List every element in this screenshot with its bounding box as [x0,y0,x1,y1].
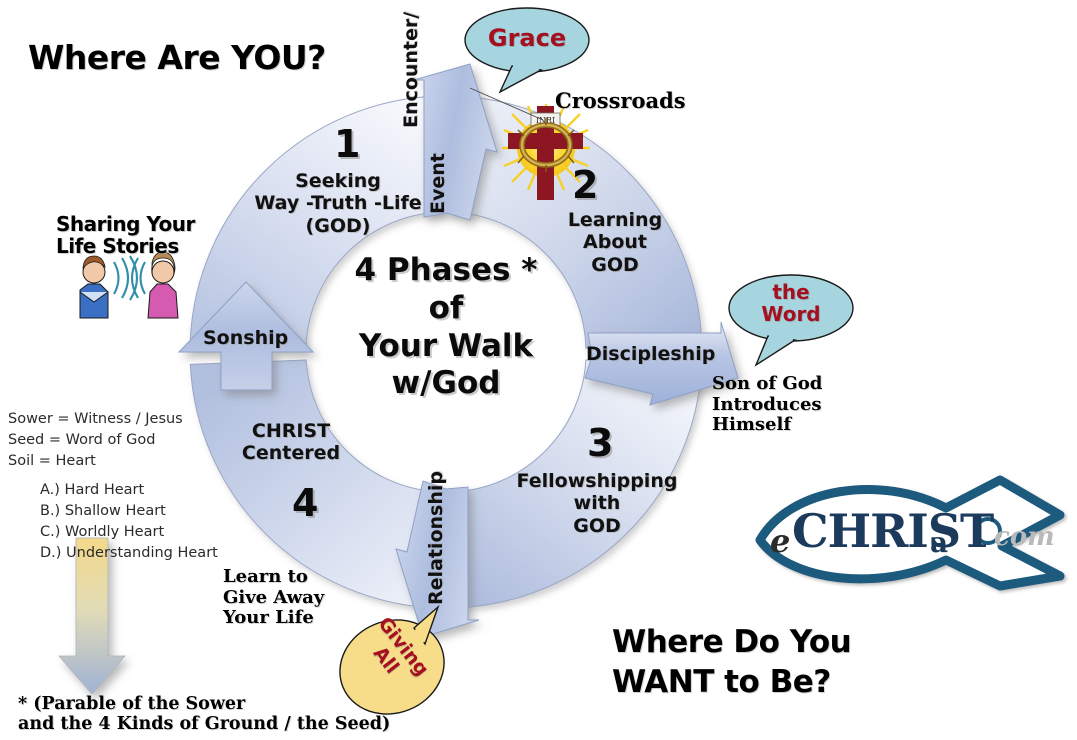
bubble-word-line1: the [741,281,841,303]
center-heading-line4: w/God [316,365,576,403]
legend-row: Seed = Word of God [8,430,218,451]
phase-3-label: Fellowshipping with GOD [497,470,697,537]
legend-row: Sower = Witness / Jesus [8,409,218,430]
phase-2-number: 2 [572,163,598,207]
son-of-god-line1: Son of God [712,374,822,395]
center-heading-line1: 4 Phases * [316,252,576,290]
phase-2-label: Learning About GOD [549,209,681,276]
sharing-line2: Life Stories [56,235,195,257]
two-people-talking-icon [80,252,178,318]
bubble-word-line2: Word [741,303,841,325]
sharing-line1: Sharing Your [56,213,195,235]
legend-sub-item: A.) Hard Heart [8,480,218,501]
son-of-god-line2: Introduces [712,395,822,416]
center-heading-line2: of [316,290,576,328]
annotation-crossroads: Crossroads [555,89,686,113]
center-heading-line3: Your Walk [316,328,576,366]
phase-2-line3: GOD [549,254,681,276]
logo-letter-e: e [770,522,790,560]
phase-4-line2: Centered [212,442,370,464]
phase-1-line1: Seeking [228,170,448,192]
phase-1-number: 1 [334,122,360,166]
echrista-logo-wordmark: e CHRIST a com [770,500,1070,570]
phase-3-number: 3 [587,421,613,465]
learn-line2: Give Away [223,588,324,609]
annotation-sharing-life-stories: Sharing Your Life Stories [56,213,195,258]
phase-4-label: CHRIST Centered [212,420,370,465]
phase-2-line1: Learning [549,209,681,231]
footnote-line1: * (Parable of the Sower [18,695,390,715]
annotation-son-of-god: Son of God Introduces Himself [712,374,822,436]
transition-label-relationship: Relationship [425,471,447,605]
phase-2-line2: About [549,231,681,253]
transition-label-sonship: Sonship [203,327,288,349]
legend-row: Soil = Heart [8,451,218,472]
diagram-canvas: INRI [0,0,1077,740]
logo-suffix-com: com [994,522,1055,552]
phase-1-line3: (GOD) [228,215,448,237]
phase-1-label: Seeking Way -Truth -Life (GOD) [228,170,448,237]
legend-sub-item: C.) Worldly Heart [8,522,218,543]
legend-sub-item: B.) Shallow Heart [8,501,218,522]
legend-sub-item: D.) Understanding Heart [8,543,218,564]
phase-3-line1: Fellowshipping [497,470,697,492]
learn-line1: Learn to [223,567,324,588]
learn-line3: Your Life [223,608,324,629]
annotation-footnote-parable: * (Parable of the Sower and the 4 Kinds … [18,695,390,735]
logo-word-christ: CHRIST [792,504,993,558]
transition-label-encounter-line2: Event [427,153,449,214]
center-heading: 4 Phases * of Your Walk w/God [316,252,576,403]
sower-legend: Sower = Witness / Jesus Seed = Word of G… [8,409,218,564]
page-title-where-do-you-want-line1: Where Do You [612,625,851,660]
transition-label-discipleship: Discipleship [586,343,715,365]
phase-4-line1: CHRIST [212,420,370,442]
phase-3-line2: with [497,492,697,514]
page-title-where-do-you-want-line2: WANT to Be? [612,665,831,700]
phase-1-line2: Way -Truth -Life [228,192,448,214]
logo-letter-a: a [930,526,948,559]
bubble-the-word-text: the Word [741,281,841,326]
page-title-where-are-you: Where Are YOU? [28,40,326,77]
son-of-god-line3: Himself [712,415,822,436]
footnote-line2: and the 4 Kinds of Ground / the Seed) [18,715,390,735]
bubble-grace-text: Grace [477,24,577,52]
transition-label-encounter-line1: Encounter/ [400,12,422,128]
phase-4-number: 4 [292,481,318,525]
annotation-learn-to-give-away: Learn to Give Away Your Life [223,567,324,629]
phase-3-line3: GOD [497,515,697,537]
